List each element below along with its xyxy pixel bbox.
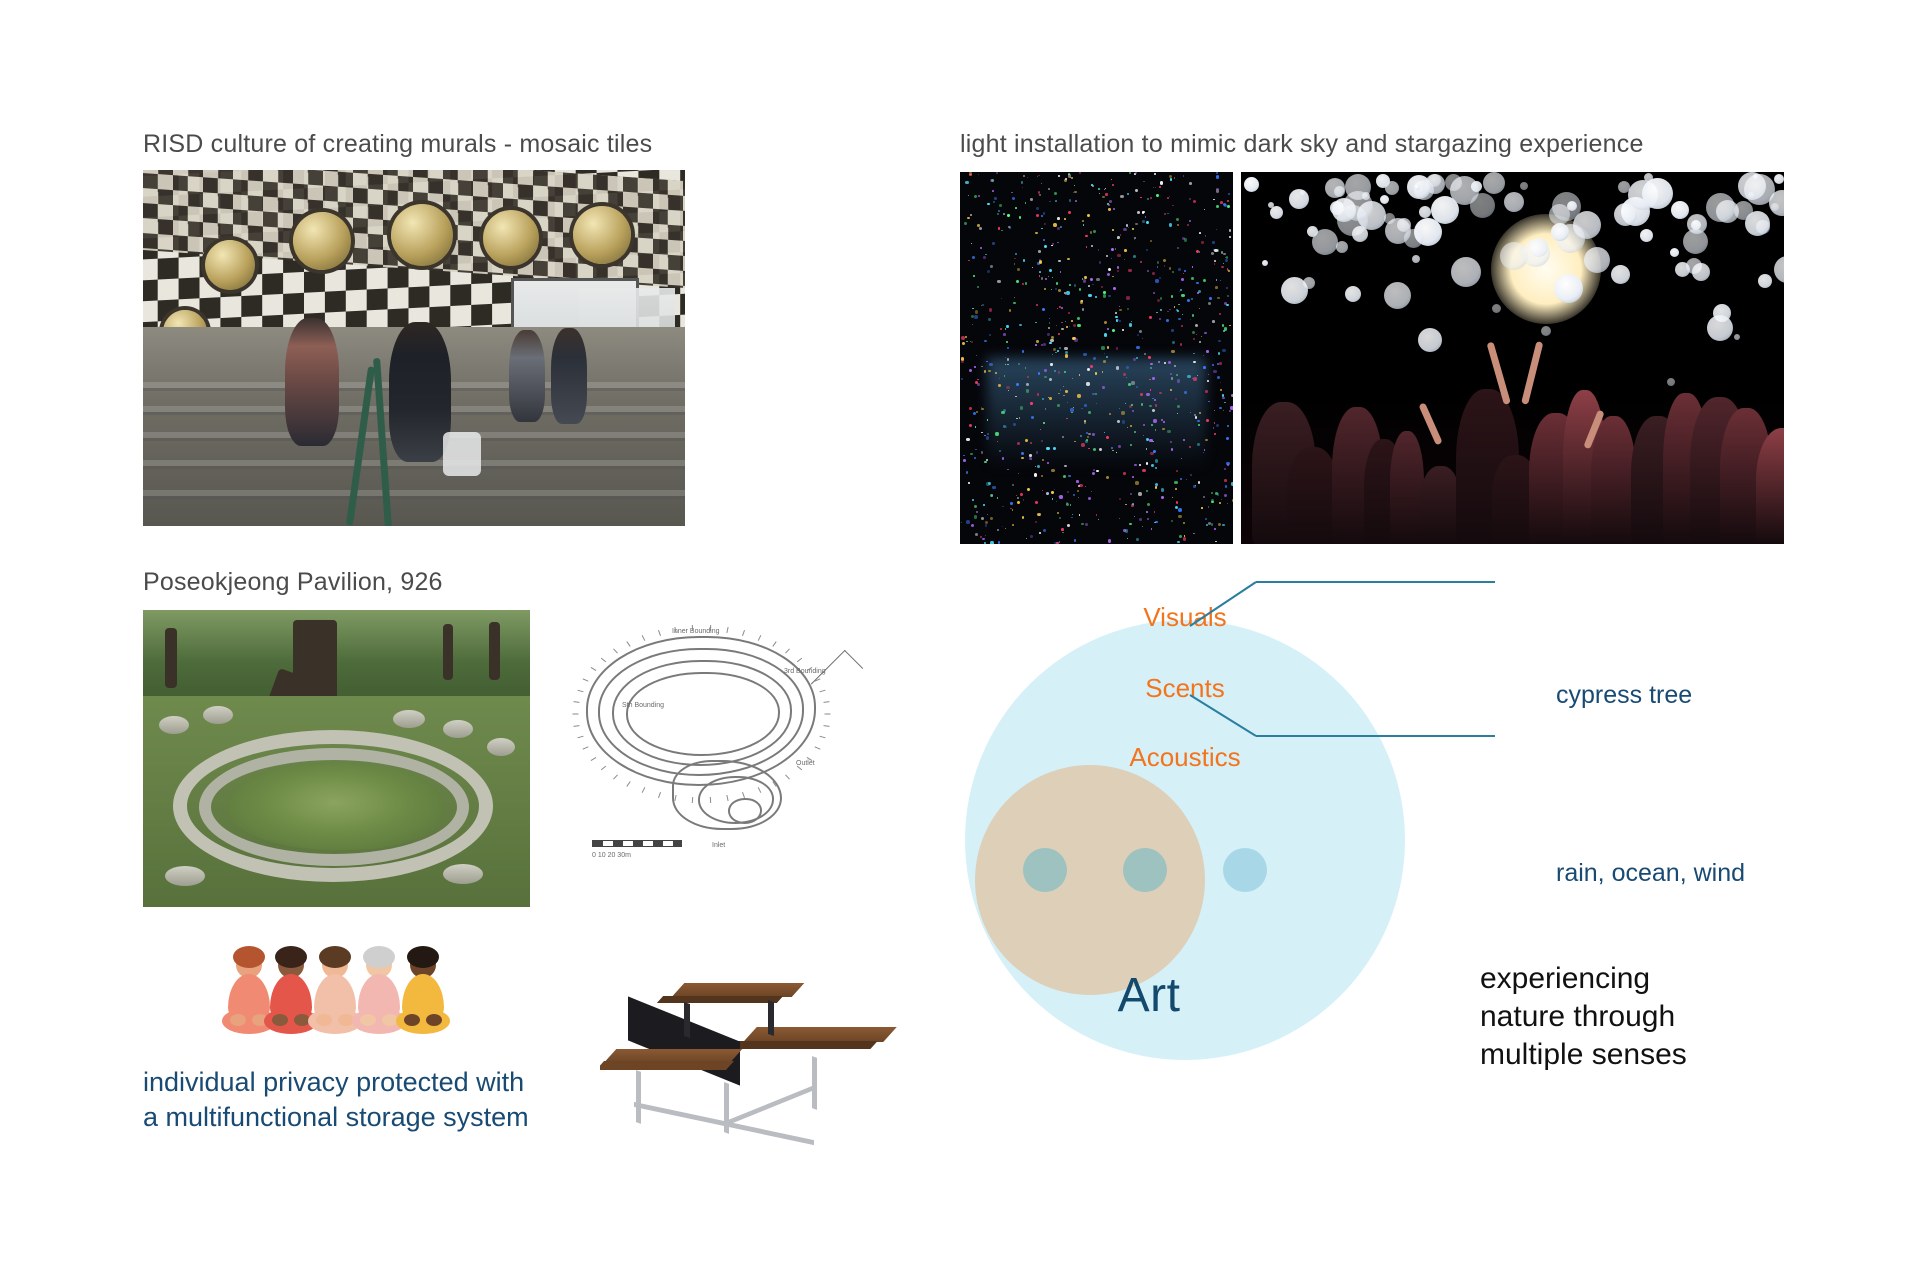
mosaic-stairwell-photo: [143, 170, 685, 526]
poseokjeong-plan-drawing: 0 10 20 30m Inner Bounding 3rd Bounding …: [552, 610, 892, 872]
leader-lines: [1060, 540, 1680, 960]
multifunctional-storage-table-illustration: [600, 975, 910, 1145]
light-installation-caption: light installation to mimic dark sky and…: [960, 130, 1644, 159]
annotation-cypress-tree: cypress tree: [1556, 681, 1692, 710]
mosaic-caption: RISD culture of creating murals - mosaic…: [143, 130, 652, 159]
lantern-stargazing-photo: [1241, 172, 1784, 544]
infinity-mirror-room-photo: [960, 172, 1233, 544]
poseokjeong-caption: Poseokjeong Pavilion, 926: [143, 568, 443, 597]
venn-center-label-art: Art: [1009, 968, 1289, 1023]
privacy-storage-caption: individual privacy protected with a mult…: [143, 1065, 529, 1134]
venn-summary-text: experiencing nature through multiple sen…: [1480, 960, 1687, 1073]
poseokjeong-pond-photo: [143, 610, 530, 907]
people-meditating-illustration: [218, 940, 458, 1050]
slide-canvas: RISD culture of creating murals - mosaic…: [0, 0, 1920, 1280]
annotation-rain-ocean-wind: rain, ocean, wind: [1556, 859, 1745, 888]
